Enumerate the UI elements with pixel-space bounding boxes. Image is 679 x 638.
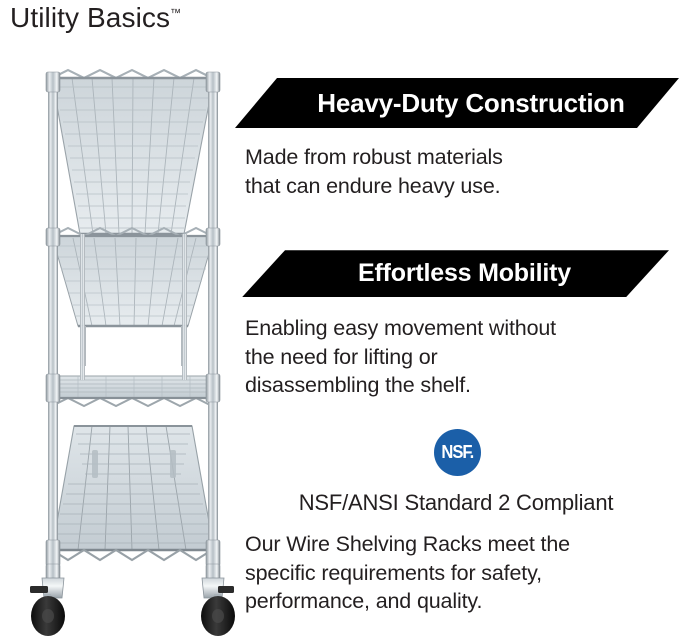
wire-shelving-unit-illustration <box>18 58 254 638</box>
text-line: disassembling the shelf. <box>245 371 679 400</box>
text-line: Enabling easy movement without <box>245 314 679 343</box>
feature-banner-heavy-duty: Heavy-Duty Construction <box>235 78 679 128</box>
text-line: specific requirements for safety, <box>245 559 679 588</box>
text-line: Our Wire Shelving Racks meet the <box>245 530 679 559</box>
trademark-symbol: ™ <box>170 8 181 20</box>
brand-name: Utility Basics <box>10 2 170 33</box>
feature-banner-mobility: Effortless Mobility <box>242 250 669 297</box>
nsf-badge-wrapper: NSF. <box>235 429 679 476</box>
text-line: that can endure heavy use. <box>245 172 679 201</box>
text-line: the need for lifting or <box>245 343 679 372</box>
feature-column: Heavy-Duty Construction Made from robust… <box>245 78 679 638</box>
feature-banner-label: Effortless Mobility <box>340 259 571 288</box>
feature-description-mobility: Enabling easy movement without the need … <box>245 314 679 400</box>
text-line: Made from robust materials <box>245 143 679 172</box>
text-line: performance, and quality. <box>245 587 679 616</box>
shelf-2 <box>52 228 214 366</box>
feature-banner-label: Heavy-Duty Construction <box>289 88 624 119</box>
shelf-4 <box>52 426 214 560</box>
caster-left <box>30 564 65 636</box>
nsf-compliance-caption: NSF/ANSI Standard 2 Compliant <box>233 490 679 516</box>
product-image <box>18 58 254 638</box>
shelf-1 <box>52 70 214 234</box>
certification-description: Our Wire Shelving Racks meet the specifi… <box>245 530 679 616</box>
shelf-3 <box>52 376 214 406</box>
caster-right <box>201 564 235 636</box>
nsf-certification-icon: NSF. <box>434 429 481 476</box>
brand-logo: Utility Basics™ <box>10 2 181 34</box>
feature-description-heavy-duty: Made from robust materials that can endu… <box>245 143 679 200</box>
nsf-badge-label: NSF. <box>441 443 473 461</box>
